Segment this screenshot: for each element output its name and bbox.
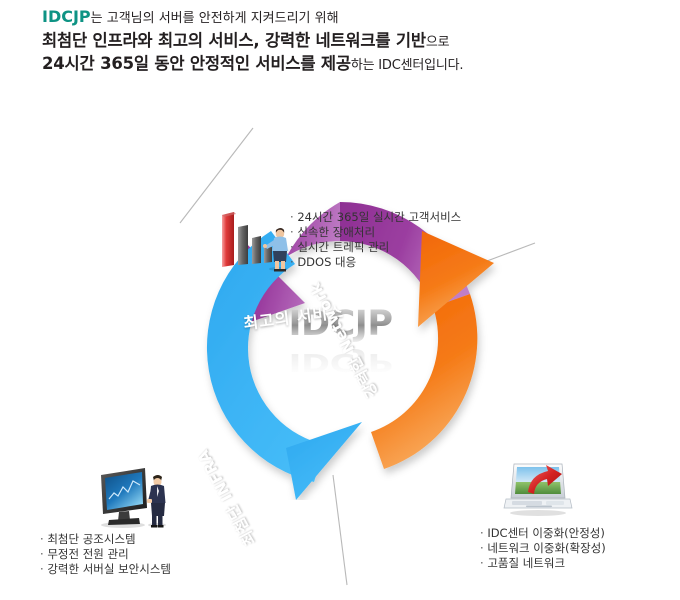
header-line-3-main: 24시간 365일 동안 안정적인 서비스를 제공 — [42, 54, 351, 73]
header-line-1-rest: 는 고객님의 서버를 안전하게 지켜드리기 위해 — [91, 11, 339, 26]
chart-bars — [222, 212, 272, 267]
header-line-3-tail: 하는 IDC센터입니다. — [351, 58, 464, 73]
header-line-2-main: 최첨단 인프라와 최고의 서비스, 강력한 네트워크를 기반 — [42, 31, 426, 50]
callout-infra-item-2: 무정전 전원 관리 — [40, 547, 171, 562]
header-line-2-tail: 으로 — [426, 35, 450, 50]
page-header: IDCJP는 고객님의 서버를 안전하게 지켜드리기 위해 최첨단 인프라와 최… — [42, 6, 642, 76]
laptop — [504, 464, 572, 516]
callout-service: 24시간 365일 실시간 고객서비스 신속한 장애처리 실시간 트레픽 관리 … — [290, 210, 461, 270]
segment-infra-head[interactable] — [286, 422, 362, 500]
bar-chart-presenter-icon — [218, 207, 290, 273]
callout-service-item-3: 실시간 트레픽 관리 — [290, 240, 461, 255]
callout-network-item-3: 고품질 네트워크 — [480, 556, 606, 571]
callout-network-item-1: IDC센터 이중화(안정성) — [480, 526, 606, 541]
callout-service-item-1: 24시간 365일 실시간 고객서비스 — [290, 210, 461, 225]
callout-network-item-2: 네트워크 이중화(확장성) — [480, 541, 606, 556]
header-line-1: IDCJP는 고객님의 서버를 안전하게 지켜드리기 위해 — [42, 6, 642, 29]
monitor-businessman-icon — [95, 463, 173, 529]
laptop-arrow-icon — [502, 458, 574, 518]
callout-infra-item-1: 최첨단 공조시스템 — [40, 532, 171, 547]
monitor — [101, 468, 147, 528]
callout-infra-item-3: 강력한 서버실 보안시스템 — [40, 562, 171, 577]
callout-network: IDC센터 이중화(안정성) 네트워크 이중화(확장성) 고품질 네트워크 — [480, 526, 606, 571]
callout-infra: 최첨단 공조시스템 무정전 전원 관리 강력한 서버실 보안시스템 — [40, 532, 171, 577]
cycle-diagram: IDCJP IDCJP 최고의 서비스 강력한 Network 최첨단 INFR… — [0, 95, 680, 600]
callout-service-item-4: DDOS 대응 — [290, 255, 461, 270]
header-line-2: 최첨단 인프라와 최고의 서비스, 강력한 네트워크를 기반으로 — [42, 29, 642, 52]
callout-service-item-2: 신속한 장애처리 — [290, 225, 461, 240]
header-line-3: 24시간 365일 동안 안정적인 서비스를 제공하는 IDC센터입니다. — [42, 52, 642, 75]
businessman-figure — [147, 475, 166, 528]
brand-name: IDCJP — [42, 7, 91, 26]
